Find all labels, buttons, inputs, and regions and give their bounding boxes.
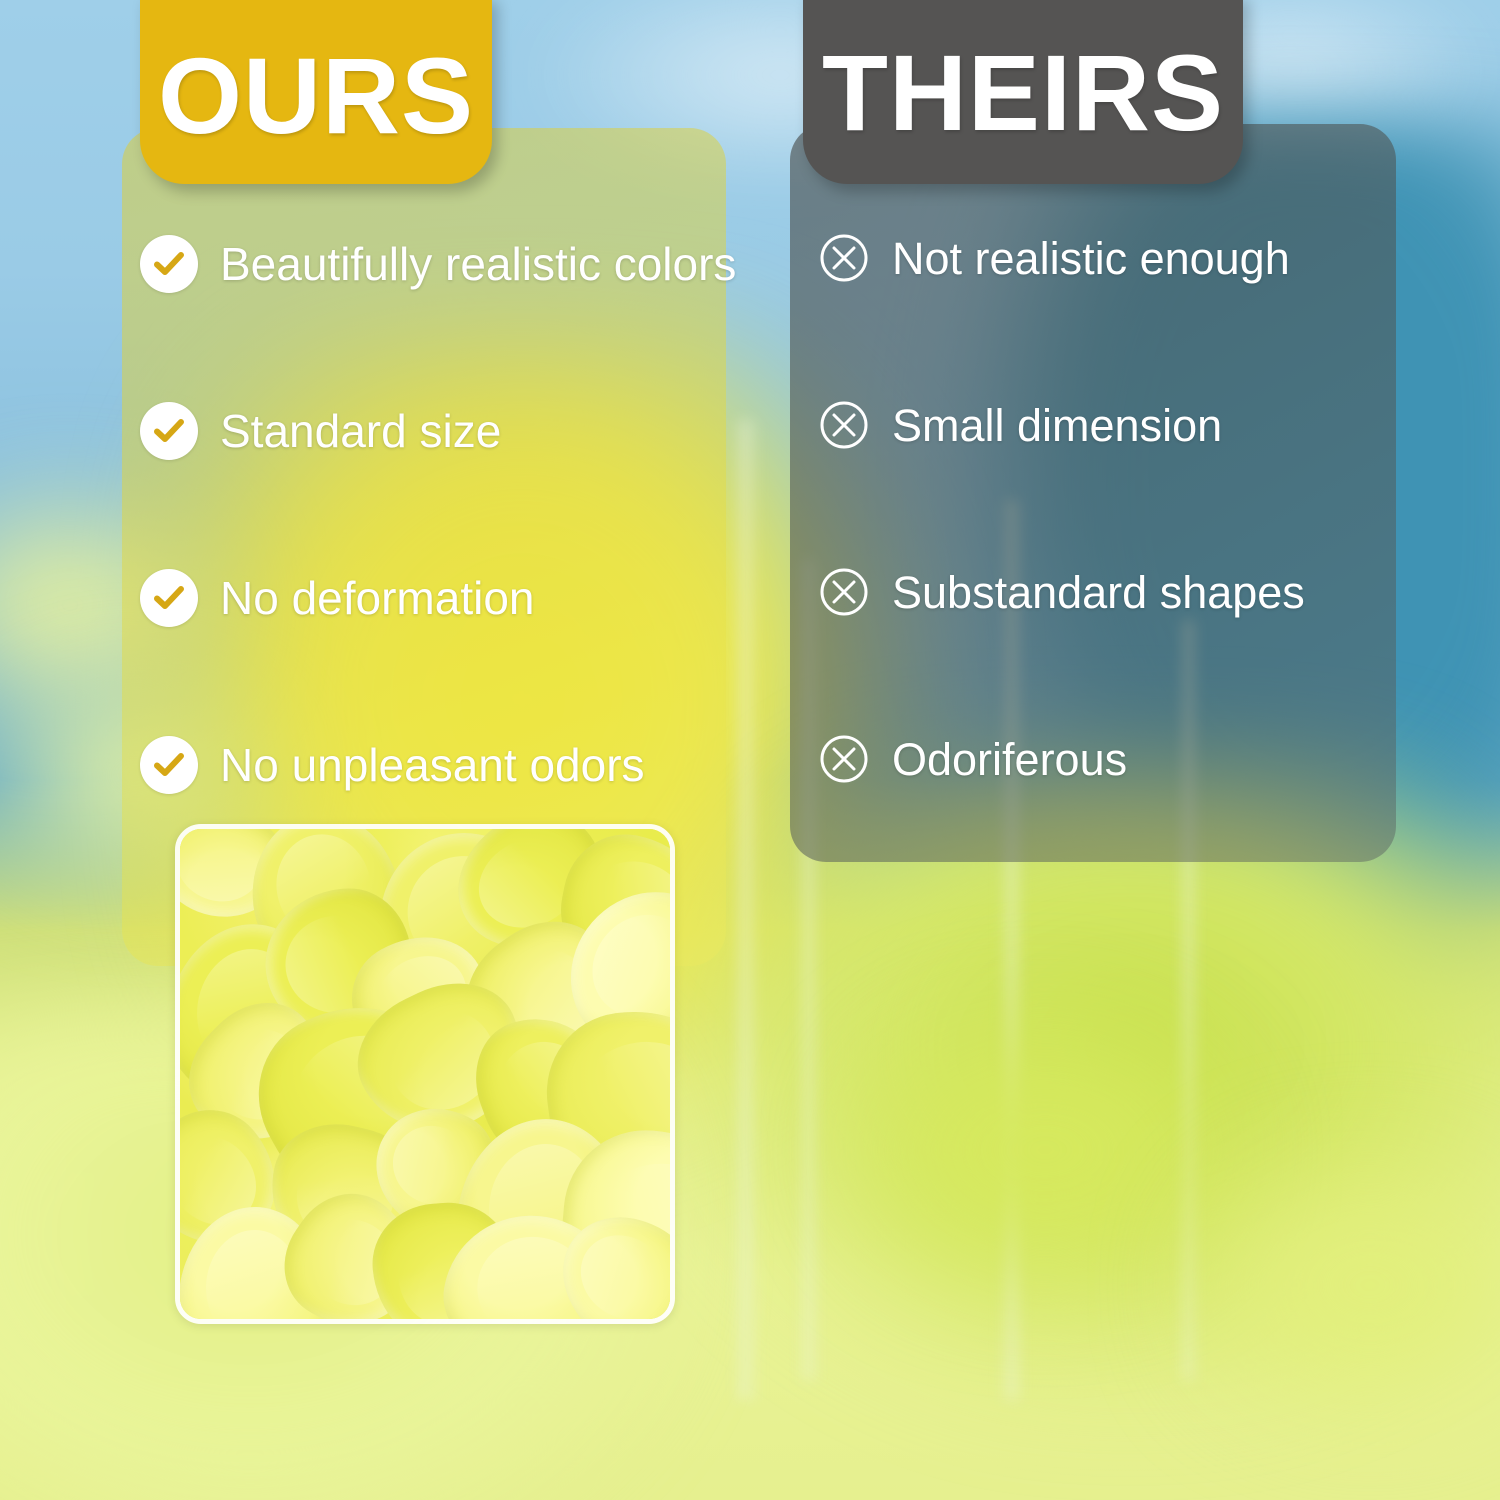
check-circle-icon xyxy=(140,569,198,627)
background-petal-blur xyxy=(1220,1180,1500,1390)
feature-label: Substandard shapes xyxy=(892,570,1305,615)
ours-header-label: OURS xyxy=(158,28,474,150)
theirs-feature-list: Not realistic enough Small dimension Sub… xyxy=(818,212,1418,880)
background-petal-blur xyxy=(880,1040,1210,1260)
product-photo-inset xyxy=(175,824,675,1324)
theirs-header-badge: THEIRS xyxy=(803,0,1243,184)
list-item: Substandard shapes xyxy=(818,546,1418,638)
ours-feature-list: Beautifully realistic colors Standard si… xyxy=(140,218,740,886)
feature-label: Odoriferous xyxy=(892,737,1127,782)
feature-label: Not realistic enough xyxy=(892,236,1290,281)
feature-label: No deformation xyxy=(220,575,535,621)
list-item: Small dimension xyxy=(818,379,1418,471)
feature-label: Beautifully realistic colors xyxy=(220,241,736,287)
theirs-header-label: THEIRS xyxy=(822,29,1224,147)
list-item: Standard size xyxy=(140,385,740,477)
check-circle-icon xyxy=(140,235,198,293)
x-circle-icon xyxy=(818,399,870,451)
list-item: Odoriferous xyxy=(818,713,1418,805)
list-item: Beautifully realistic colors xyxy=(140,218,740,310)
feature-label: Small dimension xyxy=(892,403,1222,448)
list-item: No deformation xyxy=(140,552,740,644)
feature-label: No unpleasant odors xyxy=(220,742,645,788)
x-circle-icon xyxy=(818,733,870,785)
x-circle-icon xyxy=(818,232,870,284)
check-circle-icon xyxy=(140,402,198,460)
list-item: No unpleasant odors xyxy=(140,719,740,811)
yellow-rose-petals-photo xyxy=(180,829,670,1319)
x-circle-icon xyxy=(818,566,870,618)
list-item: Not realistic enough xyxy=(818,212,1418,304)
feature-label: Standard size xyxy=(220,408,501,454)
check-circle-icon xyxy=(140,736,198,794)
ours-header-badge: OURS xyxy=(140,0,492,184)
